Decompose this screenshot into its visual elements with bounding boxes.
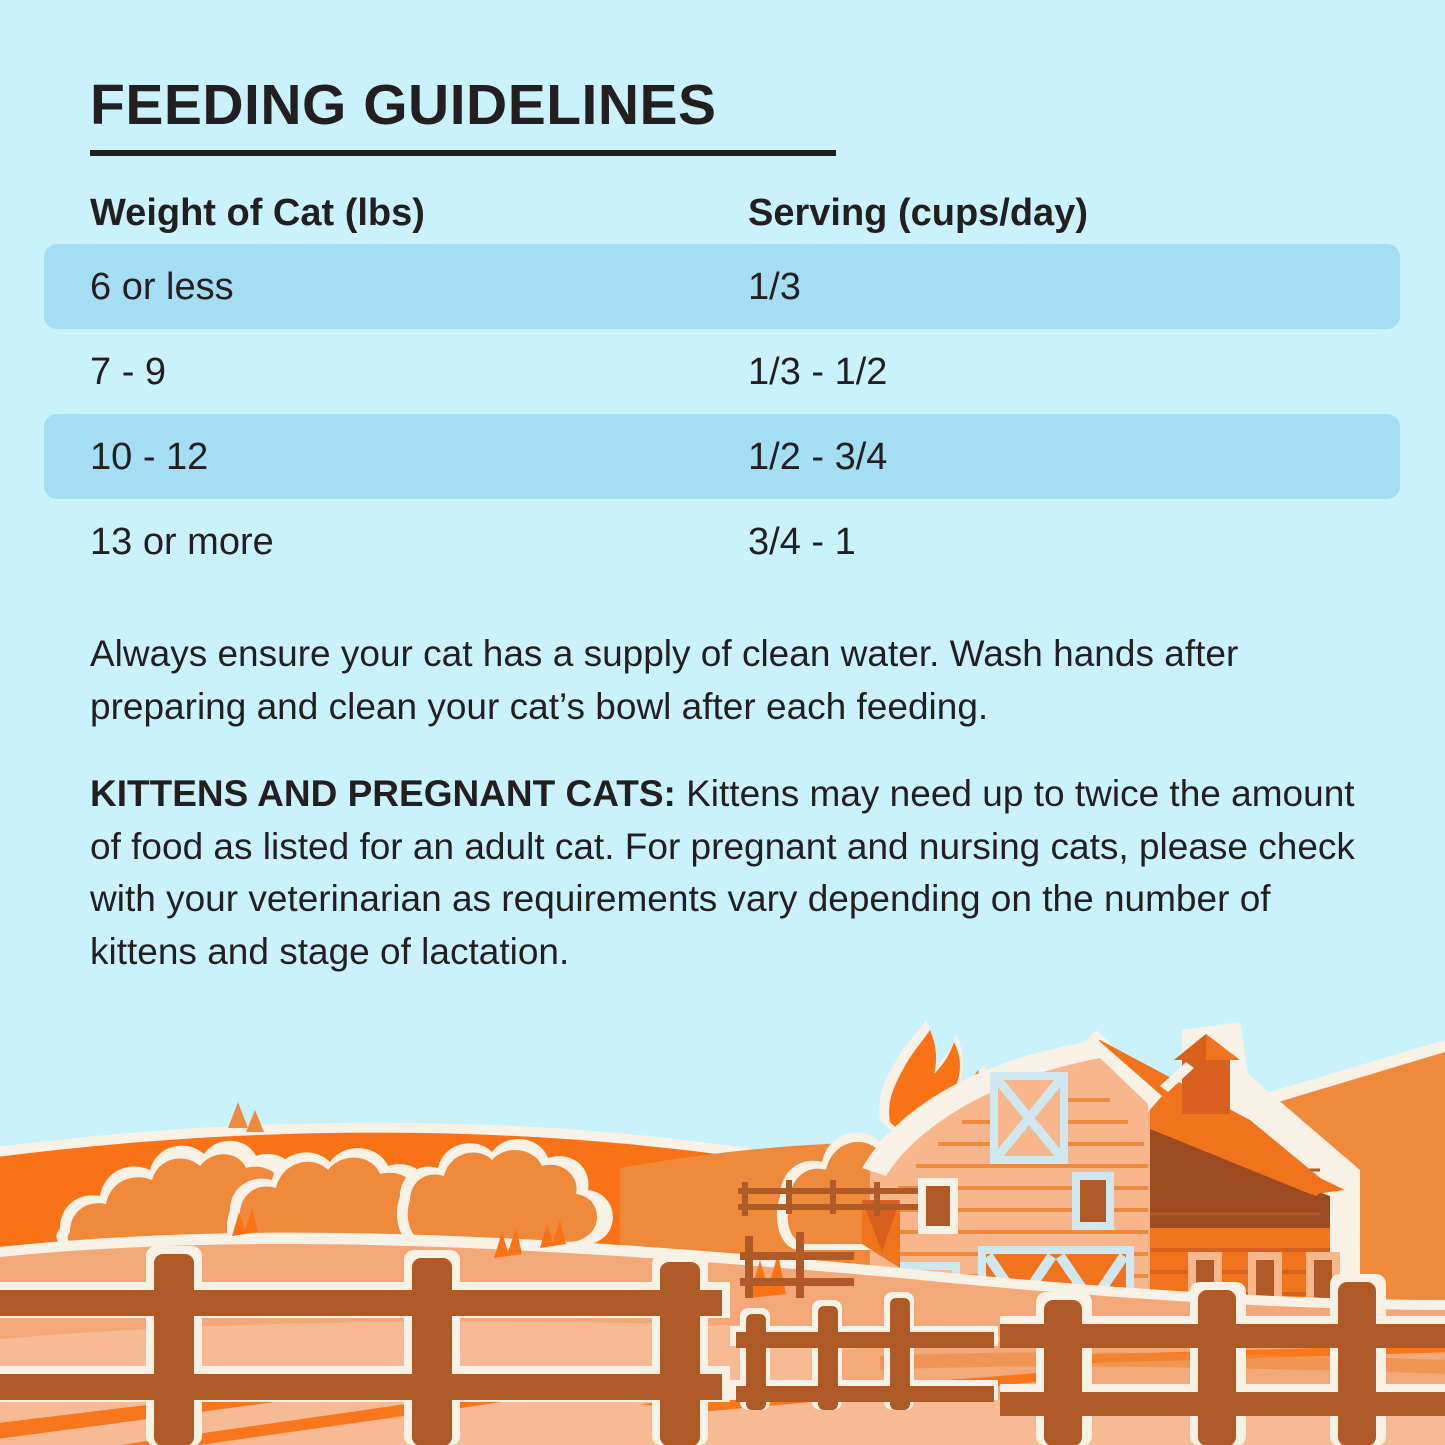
column-header-serving: Serving (cups/day)	[748, 194, 1400, 232]
heading-block: FEEDING GUIDELINES	[90, 76, 1400, 156]
feeding-table: Weight of Cat (lbs) Serving (cups/day) 6…	[44, 182, 1400, 584]
barn-hayloft-door	[990, 1072, 1068, 1164]
table-row: 13 or more 3/4 - 1	[44, 499, 1400, 584]
cell-serving: 3/4 - 1	[748, 523, 1400, 561]
cell-serving: 1/3	[748, 268, 1400, 306]
kittens-note: KITTENS AND PREGNANT CATS: Kittens may n…	[90, 768, 1375, 978]
farm-illustration	[0, 1000, 1445, 1445]
cell-weight: 13 or more	[44, 523, 748, 561]
page-title: FEEDING GUIDELINES	[90, 76, 1400, 136]
barn-window-right	[1072, 1172, 1114, 1230]
cell-serving: 1/3 - 1/2	[748, 353, 1400, 391]
table-row: 6 or less 1/3	[44, 244, 1400, 329]
column-header-weight: Weight of Cat (lbs)	[44, 194, 748, 232]
table-header-row: Weight of Cat (lbs) Serving (cups/day)	[44, 182, 1400, 244]
table-row: 7 - 9 1/3 - 1/2	[44, 329, 1400, 414]
kittens-note-label: KITTENS AND PREGNANT CATS:	[90, 773, 676, 814]
water-note: Always ensure your cat has a supply of c…	[90, 628, 1375, 733]
cell-serving: 1/2 - 3/4	[748, 438, 1400, 476]
table-row: 10 - 12 1/2 - 3/4	[44, 414, 1400, 499]
feeding-guidelines-panel: FEEDING GUIDELINES Weight of Cat (lbs) S…	[0, 0, 1445, 1445]
farm-scene-svg	[0, 1000, 1445, 1445]
barn-window-left	[918, 1178, 958, 1234]
cell-weight: 10 - 12	[44, 438, 748, 476]
cell-weight: 6 or less	[44, 268, 748, 306]
title-underline	[90, 150, 836, 156]
cell-weight: 7 - 9	[44, 353, 748, 391]
